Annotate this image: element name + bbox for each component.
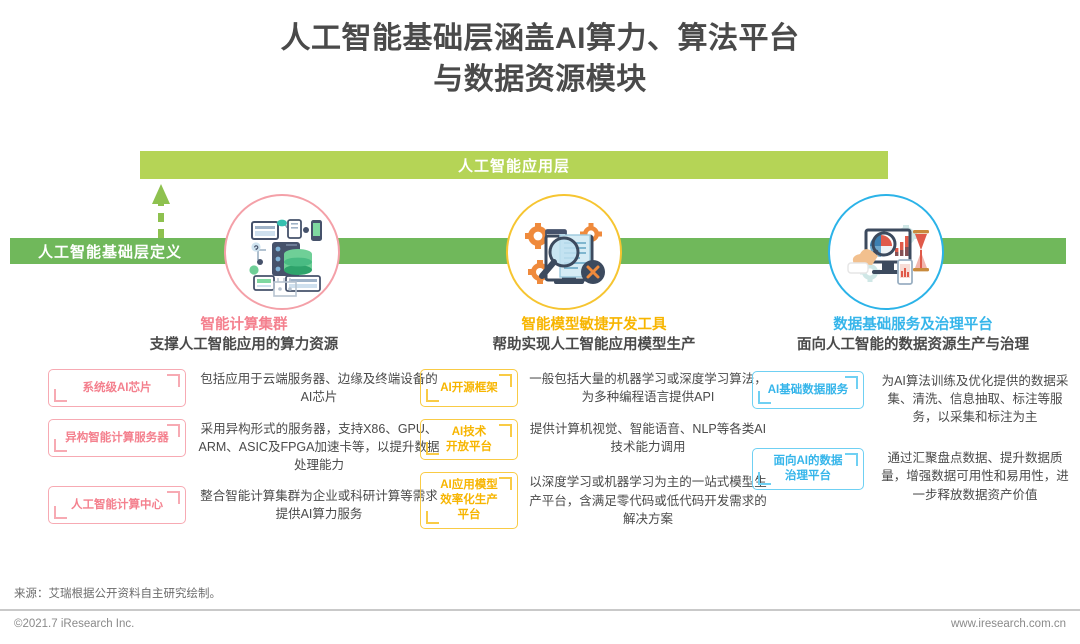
corner-bracket-tr-icon xyxy=(499,424,512,437)
item-description: 以深度学习或机器学习为主的一站式模型生产平台，含满足零代码或低代码开发需求的解决… xyxy=(518,472,768,527)
corner-bracket-bl-icon xyxy=(426,389,439,402)
corner-bracket-bl-icon xyxy=(54,439,67,452)
circle-icon-model-dev-tools xyxy=(506,194,622,310)
tag-wrapper: 异构智能计算服务器 xyxy=(48,419,186,457)
column-heading: 数据基础服务及治理平台 xyxy=(752,316,1074,334)
base-layer-label-box: 人工智能基础层定义 xyxy=(16,238,200,264)
column-heading: 智能计算集群 xyxy=(48,316,440,334)
footer-divider xyxy=(0,609,1080,611)
column-heading: 智能模型敏捷开发工具 xyxy=(420,316,768,334)
item-description: 整合智能计算集群为企业或科研计算等需求提供AI算力服务 xyxy=(186,486,440,523)
list-item: AI开源框架 一般包括大量的机器学习或深度学习算法，为多种编程语言提供API xyxy=(420,369,768,407)
monitor-gears-magnifier-icon xyxy=(518,206,610,298)
copyright-text: ©2021.7 iResearch Inc. xyxy=(14,618,134,630)
upward-arrow-icon xyxy=(152,182,170,238)
tag-wrapper: AI基础数据服务 xyxy=(752,371,864,409)
column-compute-cluster: 智能计算集群 支撑人工智能应用的算力资源 系统级AI芯片 包括应用于云端服务器、… xyxy=(48,316,440,536)
circle-icon-compute-cluster xyxy=(224,194,340,310)
corner-bracket-bl-icon xyxy=(426,511,439,524)
column-data-services: 数据基础服务及治理平台 面向人工智能的数据资源生产与治理 AI基础数据服务 为A… xyxy=(752,316,1074,516)
title-line-2: 与数据资源模块 xyxy=(0,59,1080,100)
item-description: 通过汇聚盘点数据、提升数据质量，增强数据可用性和易用性，进一步释放数据资产价值 xyxy=(864,448,1074,503)
website-link[interactable]: www.iresearch.com.cn xyxy=(951,618,1066,630)
server-cloud-computing-icon xyxy=(236,206,328,298)
corner-bracket-tr-icon xyxy=(499,477,512,490)
tag-box[interactable]: AI基础数据服务 xyxy=(752,371,864,409)
list-item: 人工智能计算中心 整合智能计算集群为企业或科研计算等需求提供AI算力服务 xyxy=(48,486,440,524)
corner-bracket-bl-icon xyxy=(758,391,771,404)
tag-wrapper: AI开源框架 xyxy=(420,369,518,407)
tag-label: 异构智能计算服务器 xyxy=(65,431,169,446)
title-line-1: 人工智能基础层涵盖AI算力、算法平台 xyxy=(281,22,800,55)
tag-label: AI开源框架 xyxy=(440,381,498,396)
corner-bracket-tr-icon xyxy=(167,374,180,387)
corner-bracket-tr-icon xyxy=(167,491,180,504)
tag-wrapper: 人工智能计算中心 xyxy=(48,486,186,524)
list-item: 面向AI的数据治理平台 通过汇聚盘点数据、提升数据质量，增强数据可用性和易用性，… xyxy=(752,448,1074,503)
column-subheading: 帮助实现人工智能应用模型生产 xyxy=(420,336,768,355)
tag-box[interactable]: 系统级AI芯片 xyxy=(48,369,186,407)
list-item: AI基础数据服务 为AI算法训练及优化提供的数据采集、清洗、信息抽取、标注等服务… xyxy=(752,371,1074,426)
corner-bracket-bl-icon xyxy=(758,472,771,485)
column-subheading: 支撑人工智能应用的算力资源 xyxy=(48,336,440,355)
corner-bracket-bl-icon xyxy=(426,442,439,455)
item-description: 一般包括大量的机器学习或深度学习算法，为多种编程语言提供API xyxy=(518,369,768,406)
corner-bracket-tr-icon xyxy=(845,376,858,389)
page-title: 人工智能基础层涵盖AI算力、算法平台 与数据资源模块 xyxy=(0,18,1080,101)
data-analytics-hourglass-icon xyxy=(840,206,932,298)
item-description: 采用异构形式的服务器，支持X86、GPU、ARM、ASIC及FPGA加速卡等，以… xyxy=(186,419,440,474)
list-item: 系统级AI芯片 包括应用于云端服务器、边缘及终端设备的AI芯片 xyxy=(48,369,440,407)
list-item: AI应用模型效率化生产平台 以深度学习或机器学习为主的一站式模型生产平台，含满足… xyxy=(420,472,768,528)
source-note: 来源：艾瑞根据公开资料自主研究绘制。 xyxy=(14,585,221,601)
corner-bracket-tr-icon xyxy=(845,453,858,466)
tag-label: 面向AI的数据治理平台 xyxy=(774,454,843,483)
tag-box[interactable]: AI应用模型效率化生产平台 xyxy=(420,472,518,528)
tag-label: 人工智能计算中心 xyxy=(71,498,163,513)
base-layer-label: 人工智能基础层定义 xyxy=(38,241,182,262)
tag-label: AI技术开放平台 xyxy=(446,425,492,454)
tag-box[interactable]: AI技术开放平台 xyxy=(420,419,518,460)
application-layer-label: 人工智能应用层 xyxy=(458,155,570,176)
tag-wrapper: 面向AI的数据治理平台 xyxy=(752,448,864,489)
tag-box[interactable]: AI开源框架 xyxy=(420,369,518,407)
tag-wrapper: AI应用模型效率化生产平台 xyxy=(420,472,518,528)
tag-label: 系统级AI芯片 xyxy=(83,381,152,396)
corner-bracket-tr-icon xyxy=(167,424,180,437)
tag-label: AI应用模型效率化生产平台 xyxy=(440,478,498,522)
item-description: 为AI算法训练及优化提供的数据采集、清洗、信息抽取、标注等服务，以采集和标注为主 xyxy=(864,371,1074,426)
tag-wrapper: AI技术开放平台 xyxy=(420,419,518,460)
circle-icon-data-services xyxy=(828,194,944,310)
corner-bracket-bl-icon xyxy=(54,506,67,519)
tag-box[interactable]: 异构智能计算服务器 xyxy=(48,419,186,457)
tag-wrapper: 系统级AI芯片 xyxy=(48,369,186,407)
column-subheading: 面向人工智能的数据资源生产与治理 xyxy=(752,336,1074,355)
corner-bracket-tr-icon xyxy=(499,374,512,387)
corner-bracket-bl-icon xyxy=(54,389,67,402)
item-description: 包括应用于云端服务器、边缘及终端设备的AI芯片 xyxy=(186,369,440,406)
column-model-dev-tools: 智能模型敏捷开发工具 帮助实现人工智能应用模型生产 AI开源框架 一般包括大量的… xyxy=(420,316,768,541)
item-description: 提供计算机视觉、智能语音、NLP等各类AI技术能力调用 xyxy=(518,419,768,456)
tag-label: AI基础数据服务 xyxy=(768,383,849,398)
tag-box[interactable]: 人工智能计算中心 xyxy=(48,486,186,524)
application-layer-bar: 人工智能应用层 xyxy=(140,151,888,179)
tag-box[interactable]: 面向AI的数据治理平台 xyxy=(752,448,864,489)
list-item: AI技术开放平台 提供计算机视觉、智能语音、NLP等各类AI技术能力调用 xyxy=(420,419,768,460)
list-item: 异构智能计算服务器 采用异构形式的服务器，支持X86、GPU、ARM、ASIC及… xyxy=(48,419,440,474)
infographic-page: 人工智能基础层涵盖AI算力、算法平台 与数据资源模块 人工智能应用层 人工智能基… xyxy=(0,0,1080,644)
